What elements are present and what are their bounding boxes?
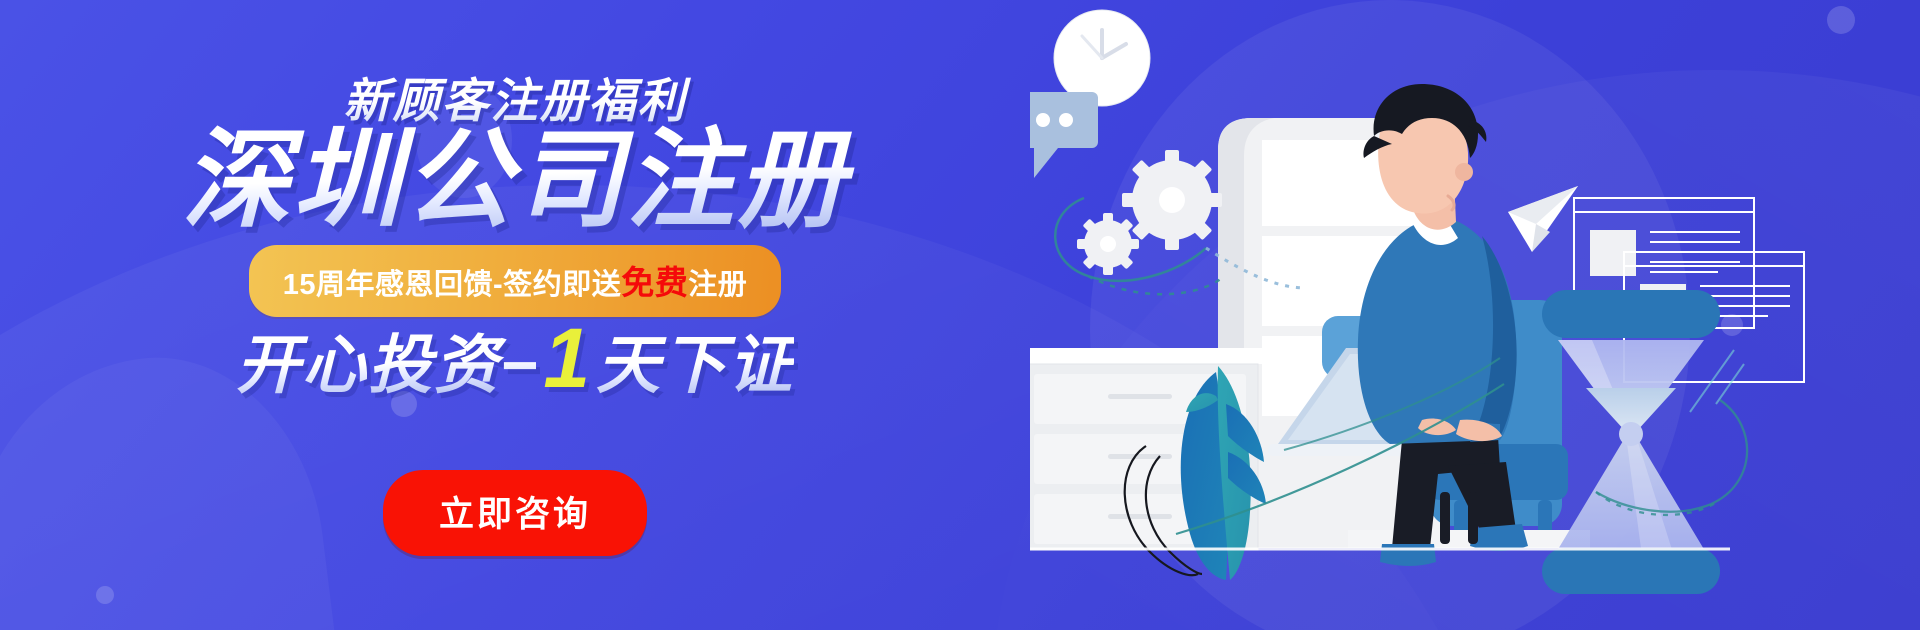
- page-title: 深圳公司注册: [0, 120, 1030, 241]
- promo-banner: 新顾客注册福利 深圳公司注册 15周年感恩回馈-签约即送免费注册 开心投资−1天…: [0, 0, 1920, 630]
- promise-before: 开心投资−: [236, 329, 539, 401]
- consult-now-button[interactable]: 立即咨询: [383, 470, 647, 556]
- promo-suffix: 注册: [688, 269, 747, 301]
- promo-badge-wrap: 15周年感恩回馈-签约即送免费注册: [0, 245, 1030, 317]
- gear-small-icon: [1077, 213, 1139, 275]
- status-badge: 15周年感恩回馈-签约即送免费注册: [249, 245, 781, 317]
- promo-prefix: 15周年感恩回馈-签约即送: [283, 269, 621, 301]
- promise-number: 1: [539, 311, 596, 405]
- promise-after: 天下证: [596, 329, 794, 401]
- cta-wrap: 立即咨询: [0, 470, 1030, 556]
- office-illustration: [1030, 0, 1920, 630]
- promo-highlight: 免费: [621, 264, 688, 301]
- chat-bubble-icon: [1030, 92, 1098, 178]
- banner-promise: 开心投资−1天下证: [0, 310, 1030, 407]
- wall-clock-icon: [1054, 10, 1150, 106]
- banner-copy: 新顾客注册福利 深圳公司注册 15周年感恩回馈-签约即送免费注册 开心投资−1天…: [0, 0, 1030, 630]
